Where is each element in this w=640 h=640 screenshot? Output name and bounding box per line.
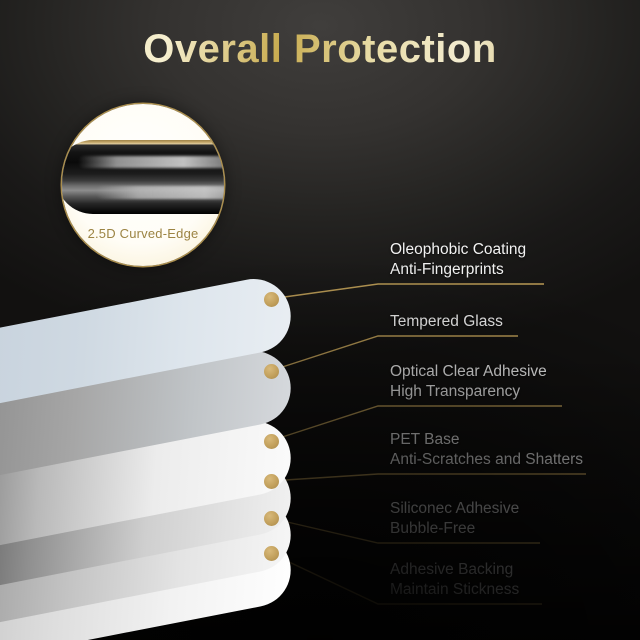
edge-highlight-lower: [96, 186, 224, 199]
callout-line-1: PET Base: [390, 431, 460, 448]
anchor-dot-4: [264, 474, 279, 489]
anchor-dot-1: [264, 292, 279, 307]
callout-label-6: Adhesive BackingMaintain Stickness: [390, 560, 519, 600]
callout-label-4: PET BaseAnti-Scratches and Shatters: [390, 430, 583, 470]
callout-line-2: Anti-Scratches and Shatters: [390, 450, 583, 470]
callout-label-2: Tempered Glass: [390, 312, 503, 332]
infographic-canvas: 2.5D Curved-Edge Oleophobic CoatingAnti-…: [0, 0, 640, 640]
callout-line-2: Anti-Fingerprints: [390, 260, 526, 280]
inset-caption: 2.5D Curved-Edge: [62, 226, 224, 241]
curved-edge-inset: 2.5D Curved-Edge: [62, 104, 224, 266]
callout-line-1: Tempered Glass: [390, 313, 503, 330]
callout-line-2: Bubble-Free: [390, 519, 519, 539]
edge-highlight-upper: [78, 156, 224, 168]
callout-line-2: High Transparency: [390, 382, 547, 402]
callout-line-2: Maintain Stickness: [390, 580, 519, 600]
page-title: Overall Protection: [0, 27, 640, 72]
callout-label-1: Oleophobic CoatingAnti-Fingerprints: [390, 240, 526, 280]
callout-label-3: Optical Clear AdhesiveHigh Transparency: [390, 362, 547, 402]
callout-line-1: Siliconec Adhesive: [390, 500, 519, 517]
curved-glass-edge-image: [62, 140, 224, 214]
anchor-dot-6: [264, 546, 279, 561]
anchor-dot-2: [264, 364, 279, 379]
protector-layer-stack: [0, 0, 640, 640]
callout-line-1: Oleophobic Coating: [390, 241, 526, 258]
callout-line-1: Adhesive Backing: [390, 561, 513, 578]
callout-label-5: Siliconec AdhesiveBubble-Free: [390, 499, 519, 539]
anchor-dot-3: [264, 434, 279, 449]
callout-line-1: Optical Clear Adhesive: [390, 363, 547, 380]
anchor-dot-5: [264, 511, 279, 526]
